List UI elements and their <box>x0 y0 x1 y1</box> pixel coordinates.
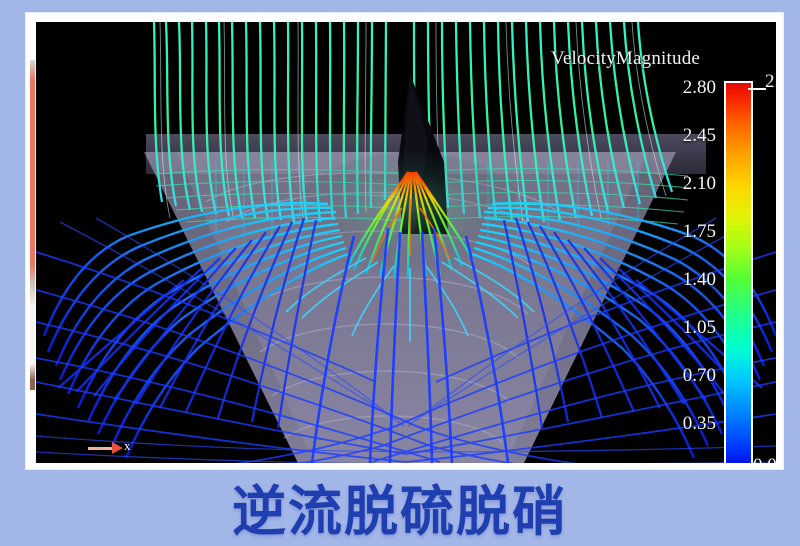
colorbar-tick-labels: 2.80 2.45 2.10 1.75 1.40 1.05 0.70 0.35 … <box>596 72 716 463</box>
axis-arrowhead-icon <box>112 442 123 454</box>
colorbar-tick-5: 1.05 <box>683 317 716 339</box>
colorbar-tick-1: 2.45 <box>683 125 716 147</box>
colorbar-max-tickline <box>748 88 766 90</box>
render-viewport[interactable]: x VelocityMagnitude 2.80 2.45 2.10 1.75 … <box>36 22 776 463</box>
axis-label-x: x <box>124 438 131 454</box>
colorbar-tick-2: 2.10 <box>683 173 716 195</box>
colorbar-tick-7: 0.35 <box>683 413 716 435</box>
colorbar-tick-6: 0.70 <box>683 365 716 387</box>
screenshot-root: x VelocityMagnitude 2.80 2.45 2.10 1.75 … <box>0 0 800 542</box>
figure-caption: 逆流脱硫脱硝 <box>0 470 800 542</box>
colorbar-max-annotation: 2.74 <box>765 71 776 93</box>
colorbar-title: VelocityMagnitude <box>551 48 700 70</box>
colorbar-min-annotation: 0.00 <box>753 455 776 463</box>
colorbar-tick-3: 1.75 <box>683 221 716 243</box>
colorbar-tick-4: 1.40 <box>683 269 716 291</box>
colorbar-tick-8: 0.00 <box>683 461 716 463</box>
colorbar[interactable] <box>724 81 753 463</box>
colorbar-tick-0: 2.80 <box>683 77 716 99</box>
window-edge-strip <box>30 60 35 390</box>
orientation-axis-widget: x <box>88 437 140 461</box>
